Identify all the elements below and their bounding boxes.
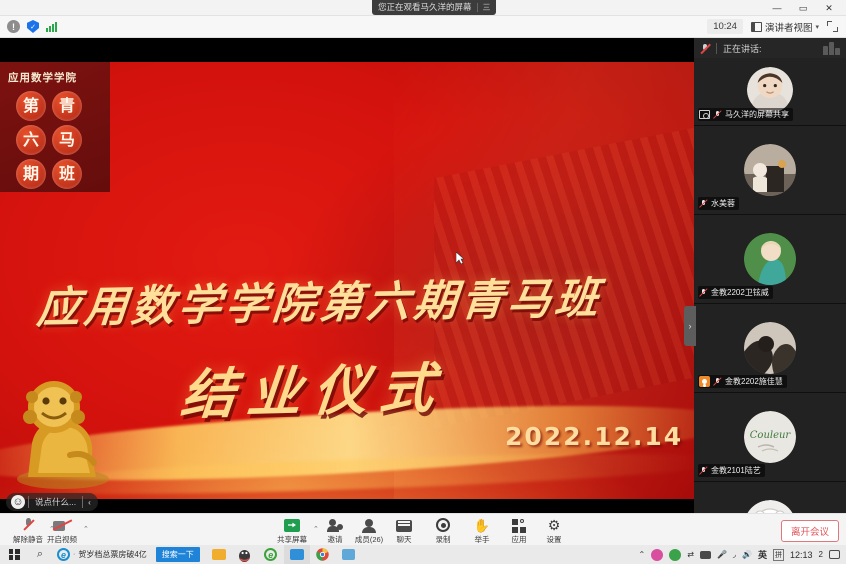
slide-date: 2022.12.14	[505, 422, 683, 451]
toolbar-settings-button[interactable]: ⚙ 设置	[532, 516, 576, 545]
taskbar-news-widget[interactable]: e · 贺岁档总票房破4亿	[52, 545, 152, 564]
raise-hand-icon: ✋	[474, 516, 490, 532]
qq-icon[interactable]	[232, 545, 258, 564]
leave-meeting-button[interactable]: 离开会议	[781, 520, 839, 542]
chat-icon	[396, 516, 412, 532]
camera-off-icon	[53, 516, 71, 532]
windows-taskbar: ⌕ e · 贺岁档总票房破4亿 搜索一下 e	[0, 545, 846, 564]
participant-tile[interactable]: 金教2202施佳慧	[694, 304, 846, 393]
minimize-button[interactable]: —	[764, 0, 790, 16]
seal-stamp: 班	[52, 159, 82, 189]
chevron-down-icon: ▾	[815, 23, 819, 31]
participant-name: 水美蓉	[711, 198, 735, 209]
avatar	[747, 67, 793, 113]
slide-logo-block: 应用数学学院 第 青 六 马 期 班	[0, 62, 110, 192]
slide-subtitle: 结业仪式	[178, 344, 450, 430]
search-icon[interactable]: ⌕	[28, 548, 52, 561]
record-icon	[436, 516, 450, 532]
seal-stamp: 六	[16, 125, 46, 155]
video-options-caret[interactable]: ⌃	[83, 525, 89, 533]
quick-chat-bar[interactable]: ☺ 说点什么... ‹	[6, 493, 98, 511]
audio-waveform-icon	[823, 42, 840, 55]
divider	[716, 43, 717, 54]
share-screen-icon	[284, 516, 300, 532]
share-menu-icon[interactable]: 三	[483, 4, 490, 12]
presentation-slide: 应用数学学院 第 青 六 马 期 班 应用数学学院第六期青马班 结业仪式 202…	[0, 62, 694, 499]
toolbar-share-screen-button[interactable]: 共享屏幕	[270, 516, 314, 545]
toolbar-chat-label: 聊天	[397, 534, 412, 545]
participant-name: 金教2202施佳慧	[725, 376, 783, 387]
divider	[477, 3, 478, 12]
toolbar-share-screen-label: 共享屏幕	[277, 534, 307, 545]
slide-title: 应用数学学院第六期青马班	[35, 262, 682, 335]
tray-overflow-icon[interactable]: ⌃	[639, 550, 646, 559]
participants-rail: 正在讲话: 马久洋的屏幕共享	[694, 38, 846, 513]
toolbar-video-label: 开启视频	[47, 534, 77, 545]
windows-start-icon[interactable]	[0, 545, 28, 564]
host-badge-icon	[699, 376, 710, 387]
chrome-icon[interactable]	[310, 545, 336, 564]
participant-nameplate: 金教2202施佳慧	[698, 375, 787, 388]
avatar	[744, 322, 796, 374]
info-icon[interactable]: !	[7, 20, 20, 33]
taskbar-news-text: 贺岁档总票房破4亿	[78, 549, 146, 560]
chat-input-placeholder[interactable]: 说点什么...	[28, 496, 83, 508]
speaker-view-icon	[751, 22, 762, 32]
toolbar-invite-label: 邀请	[328, 534, 343, 545]
apps-icon	[512, 516, 526, 532]
notification-icon[interactable]	[829, 550, 840, 559]
screen-share-notice: 您正在观看马久洋的屏幕 三	[372, 0, 496, 15]
meeting-top-bar: ! ✓ 10:24 演讲者视图 ▾	[0, 16, 846, 38]
panel-expand-arrow[interactable]: ›	[684, 306, 696, 346]
screen-share-notice-text: 您正在观看马久洋的屏幕	[378, 3, 472, 12]
network-signal-icon[interactable]	[46, 21, 57, 32]
seal-stamp: 期	[16, 159, 46, 189]
participant-name: 金教2101陆艺	[711, 465, 761, 476]
mic-muted-icon	[699, 466, 708, 476]
collapse-chat-icon[interactable]: ‹	[83, 498, 96, 507]
qq-tray-icon[interactable]	[651, 549, 663, 561]
seal-stamp: 马	[52, 125, 82, 155]
meeting-toolbar: 解除静音 ⌃ 开启视频 ⌃ 共享屏幕 ⌃ 邀请 成员(26) 聊天	[0, 513, 846, 545]
participant-nameplate: 金教2202卫铉威	[698, 286, 773, 299]
participant-name: 马久洋的屏幕共享	[725, 109, 789, 120]
shield-icon[interactable]: ✓	[27, 20, 39, 33]
speaking-label: 正在讲话:	[723, 42, 762, 55]
avatar: Couleur	[744, 411, 796, 463]
top-bar-right-controls: 10:24 演讲者视图 ▾	[707, 19, 846, 34]
toolbar-record-button[interactable]: 录制	[421, 516, 465, 545]
mouse-cursor	[456, 252, 464, 264]
participants-icon	[362, 516, 376, 532]
svg-text:Couleur: Couleur	[750, 430, 792, 441]
edge-icon: e	[57, 548, 70, 561]
toolbar-apps-label: 应用	[512, 534, 527, 545]
toolbar-mute-label: 解除静音	[13, 534, 43, 545]
taskbar-clock[interactable]: 12:13	[790, 550, 813, 560]
mic-muted-icon	[700, 43, 710, 54]
participant-nameplate: 水美蓉	[698, 197, 739, 210]
divider: ·	[73, 551, 75, 558]
mic-muted-icon	[699, 199, 708, 209]
ime-language-icon[interactable]: 英	[758, 548, 767, 561]
settings-tray-icon[interactable]: ⇄	[687, 550, 694, 559]
toolbar-raise-hand-label: 举手	[475, 534, 490, 545]
avatar	[744, 233, 796, 285]
participant-tile[interactable]: Couleur 金教2101陆艺	[694, 393, 846, 482]
battery-icon[interactable]: 2	[819, 550, 823, 559]
toolbar-record-label: 录制	[436, 534, 451, 545]
participant-tile[interactable]: 马久洋的屏幕共享	[694, 58, 846, 126]
participant-nameplate: 金教2101陆艺	[698, 464, 765, 477]
participant-name: 金教2202卫铉威	[711, 287, 769, 298]
wechat-icon[interactable]	[336, 545, 362, 564]
toolbar-chat-button[interactable]: 聊天	[382, 516, 426, 545]
seal-stamp: 第	[16, 91, 46, 121]
screen-share-badge-icon	[699, 110, 710, 119]
toolbar-settings-label: 设置	[547, 534, 562, 545]
mic-muted-icon	[713, 110, 722, 120]
close-button[interactable]: ✕	[816, 0, 842, 16]
taskbar-app-list: e	[206, 545, 362, 564]
shared-screen-stage: 应用数学学院 第 青 六 马 期 班 应用数学学院第六期青马班 结业仪式 202…	[0, 38, 694, 513]
fullscreen-icon[interactable]	[827, 21, 838, 32]
browser-tray-icon[interactable]	[669, 549, 681, 561]
window-controls: — ▭ ✕	[764, 0, 842, 16]
mic-muted-icon	[699, 288, 708, 298]
gear-icon: ⚙	[548, 516, 561, 532]
seal-stamp: 青	[52, 91, 82, 121]
stone-lion-illustration	[8, 351, 118, 491]
participant-nameplate: 马久洋的屏幕共享	[698, 108, 793, 121]
toolbar-participants-label: 成员(26)	[355, 534, 383, 545]
slide-seal-grid: 第 青 六 马 期 班	[8, 91, 104, 189]
maximize-button[interactable]: ▭	[790, 0, 816, 16]
toolbar-video-button[interactable]: 开启视频	[40, 516, 84, 545]
slide-logo-title: 应用数学学院	[8, 70, 104, 85]
avatar	[744, 144, 796, 196]
participant-tile[interactable]: 金教2202卫铉威	[694, 215, 846, 304]
invite-user-icon	[328, 516, 343, 532]
view-mode-label: 演讲者视图	[765, 20, 813, 34]
mic-muted-icon	[713, 377, 722, 387]
mic-tray-icon[interactable]: 🎤	[717, 550, 727, 559]
volume-icon[interactable]: 🔊	[742, 550, 752, 559]
microphone-muted-icon	[24, 516, 33, 532]
taskbar-search-chip[interactable]: 搜索一下	[156, 547, 200, 562]
edge-icon[interactable]: e	[258, 545, 284, 564]
meeting-icon[interactable]	[284, 545, 310, 564]
top-bar-left-icons: ! ✓	[0, 20, 57, 33]
display-tray-icon[interactable]	[700, 551, 711, 559]
active-speaker-bar: 正在讲话:	[694, 38, 846, 58]
meeting-app-window: — ▭ ✕ 您正在观看马久洋的屏幕 三 ! ✓ 10:24 演讲者视图 ▾	[0, 0, 846, 564]
emoji-icon[interactable]: ☺	[11, 495, 25, 509]
system-tray: ⌃ ⇄ 🎤 ◞ 🔊 英 拼 12:13 2	[639, 548, 846, 561]
participant-tile[interactable]: 水美蓉	[694, 126, 846, 215]
view-mode-selector[interactable]: 演讲者视图 ▾	[751, 20, 819, 34]
file-explorer-icon[interactable]	[206, 545, 232, 564]
ime-mode-icon[interactable]: 拼	[773, 549, 784, 561]
wifi-icon[interactable]: ◞	[733, 550, 736, 559]
meeting-clock: 10:24	[707, 19, 743, 34]
